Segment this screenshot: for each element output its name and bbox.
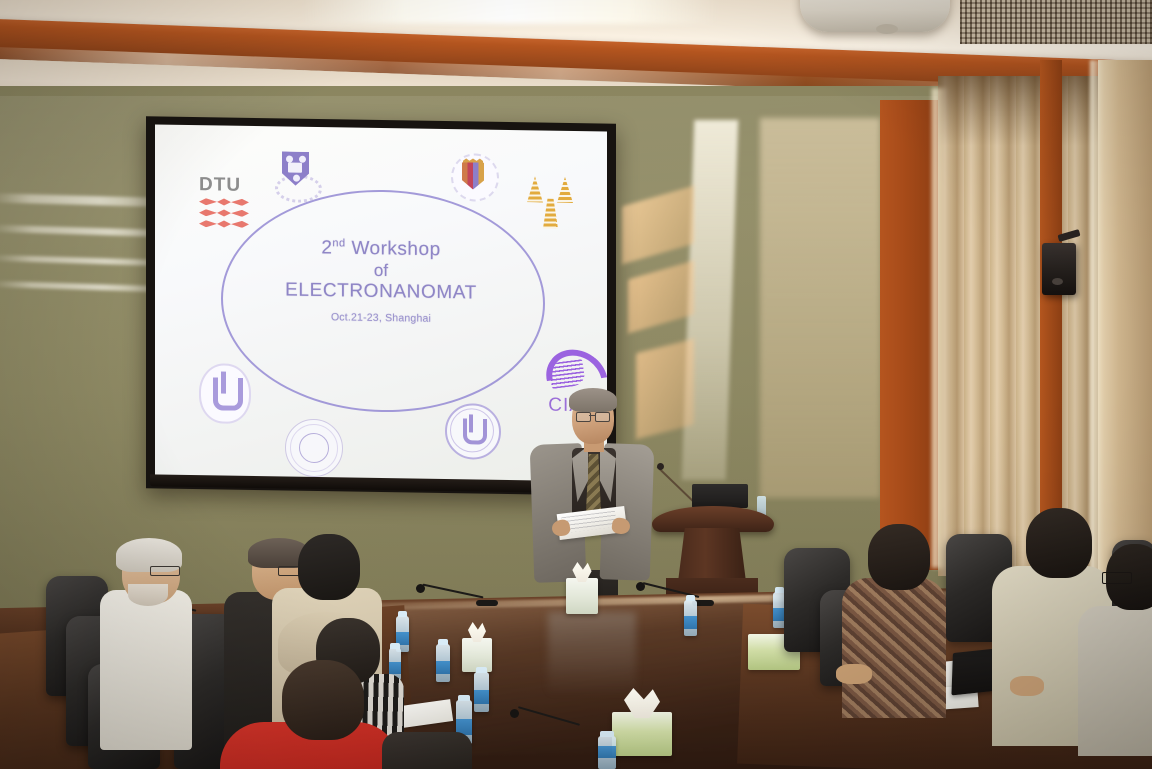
bottle-label xyxy=(598,746,616,758)
shield-crest-logo xyxy=(273,148,317,201)
attendee-head xyxy=(1026,508,1092,578)
dtu-logo-label: DTU xyxy=(199,175,255,195)
speaker-glasses-bridge-icon xyxy=(589,415,595,416)
tissue-box xyxy=(612,712,672,756)
university-u-glyph-icon xyxy=(213,377,243,410)
seal-inner-ring-icon xyxy=(299,433,329,463)
bottle-cap-icon xyxy=(438,639,449,645)
wall-wood-trim xyxy=(880,100,940,570)
speaker-glasses-lens-left-icon xyxy=(576,412,591,422)
dtu-logo-bar-icon xyxy=(199,220,249,228)
attendee-glasses-icon xyxy=(1102,572,1132,584)
air-vent-grille-icon xyxy=(960,0,1152,44)
podium-column xyxy=(678,528,746,582)
right-pillar-edge-glow xyxy=(1090,60,1102,600)
bottle-cap-icon xyxy=(458,695,470,701)
bottle-label xyxy=(436,661,450,675)
speaker-glasses-lens-right-icon xyxy=(595,412,610,422)
speaker-cone-icon xyxy=(1052,278,1063,285)
bottle-cap-icon xyxy=(398,611,408,617)
bottle-cap-icon xyxy=(600,731,614,737)
water-bottle xyxy=(474,672,489,712)
bottle-cap-icon xyxy=(476,667,487,673)
bottle-cap-icon xyxy=(390,643,399,649)
curtain-top-shadow xyxy=(938,76,1100,146)
bottle-label xyxy=(389,662,401,674)
bottle-label xyxy=(474,690,489,704)
slide-title-block: 2nd Workshop of ELECTRONANOMAT Oct.21-23… xyxy=(241,236,521,327)
slide-title-line3: ELECTRONANOMAT xyxy=(241,279,521,306)
tissue-box xyxy=(566,578,598,614)
conference-room-photo: 2nd Workshop of ELECTRONANOMAT Oct.21-23… xyxy=(0,0,1152,769)
window-curtain xyxy=(938,76,1100,576)
attendee-head xyxy=(868,524,930,590)
shield-rose-icon xyxy=(293,175,300,182)
wall-speaker xyxy=(1042,243,1076,295)
attendee-body xyxy=(842,578,946,718)
tree-trunk-icon xyxy=(543,199,558,229)
attendee-body xyxy=(100,590,192,750)
wall-warm-panel xyxy=(760,118,880,498)
university-u-logo xyxy=(199,363,249,422)
ceiling-projector xyxy=(800,0,950,32)
attendee-beard xyxy=(128,584,168,606)
attendee-body xyxy=(1078,606,1152,756)
attendee-head xyxy=(282,660,364,740)
attendee-hand xyxy=(836,664,872,684)
attendee-glasses-icon xyxy=(150,566,180,576)
attendee-head xyxy=(298,534,360,600)
speaker-hair xyxy=(569,388,617,412)
water-bottle xyxy=(436,644,450,682)
circular-u-seal-logo xyxy=(445,403,499,458)
attendee-hand xyxy=(1010,676,1044,696)
podium-microphone-head-icon xyxy=(657,463,664,470)
attendee-body xyxy=(382,732,472,769)
university-u-stem-icon xyxy=(221,371,226,393)
tree-branch-icon xyxy=(527,176,543,202)
water-bottle xyxy=(684,600,697,636)
curtain-edge-glow xyxy=(932,88,948,568)
shield-book-icon xyxy=(288,163,302,173)
dtu-logo: DTU xyxy=(199,175,255,242)
tree-branch-icon xyxy=(557,177,573,203)
right-wall-pillar xyxy=(1098,60,1152,600)
circular-seal-logo xyxy=(285,418,343,477)
bottle-cap-icon xyxy=(686,595,696,601)
projector-lens-icon xyxy=(876,24,898,34)
golden-tree-logo xyxy=(525,174,577,231)
podium-laptop xyxy=(692,484,748,508)
spanish-coat-of-arms-logo xyxy=(451,153,497,200)
microphone-base xyxy=(476,600,498,606)
dtu-logo-bar-icon xyxy=(199,209,249,217)
seal-u-glyph-icon xyxy=(463,418,487,444)
ceiling-light-strip xyxy=(300,0,720,24)
water-bottle xyxy=(598,736,616,769)
seal-u-stem-icon xyxy=(469,414,473,432)
bottle-label xyxy=(684,616,697,629)
speaker-reflection-on-table xyxy=(548,612,636,696)
microphone-head-icon xyxy=(510,709,519,718)
bottle-cap-icon xyxy=(775,587,785,593)
shield-rose-icon xyxy=(286,156,293,163)
dtu-logo-bar-icon xyxy=(199,198,249,206)
shield-rose-icon xyxy=(299,156,306,163)
